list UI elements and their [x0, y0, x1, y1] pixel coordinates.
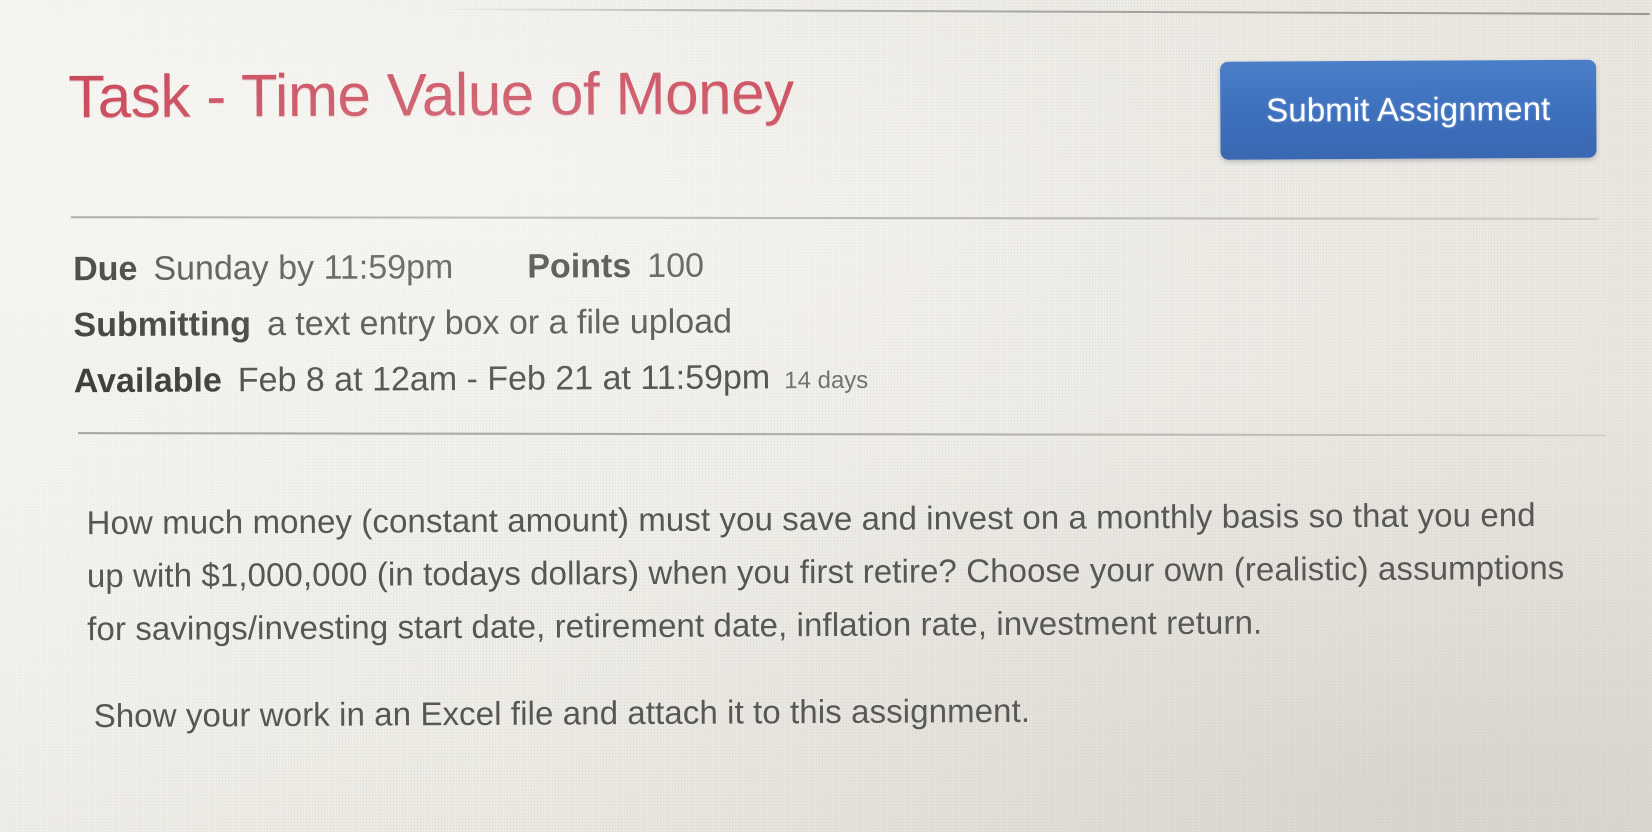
submitting-value: a text entry box or a file upload — [267, 303, 732, 345]
description-paragraph-2: Show your work in an Excel file and atta… — [88, 681, 1578, 742]
due-label: Due — [73, 250, 137, 289]
points-value: 100 — [647, 247, 704, 286]
available-value: Feb 8 at 12am - Feb 21 at 11:59pm — [238, 358, 771, 400]
meta-row-due: Due Sunday by 11:59pm Points 100 — [73, 246, 868, 306]
description-paragraph-1: How much money (constant amount) must yo… — [86, 488, 1577, 655]
top-divider — [438, 8, 1650, 15]
submit-assignment-button[interactable]: Submit Assignment — [1220, 60, 1597, 160]
assignment-header: Task - Time Value of Money Submit Assign… — [68, 54, 1601, 173]
assignment-description: How much money (constant amount) must yo… — [86, 488, 1577, 742]
assignment-page: Task - Time Value of Money Submit Assign… — [0, 0, 1652, 832]
available-duration: 14 days — [784, 367, 868, 395]
meta-row-submitting: Submitting a text entry box or a file up… — [73, 302, 868, 362]
meta-divider — [78, 432, 1606, 436]
available-label: Available — [74, 361, 222, 401]
points-label: Points — [527, 247, 631, 287]
page-title: Task - Time Value of Money — [68, 58, 794, 131]
assignment-meta: Due Sunday by 11:59pm Points 100 Submitt… — [73, 246, 868, 418]
submitting-label: Submitting — [73, 305, 251, 345]
meta-row-available: Available Feb 8 at 12am - Feb 21 at 11:5… — [74, 358, 869, 418]
due-value: Sunday by 11:59pm — [153, 248, 453, 289]
header-divider — [71, 216, 1599, 220]
